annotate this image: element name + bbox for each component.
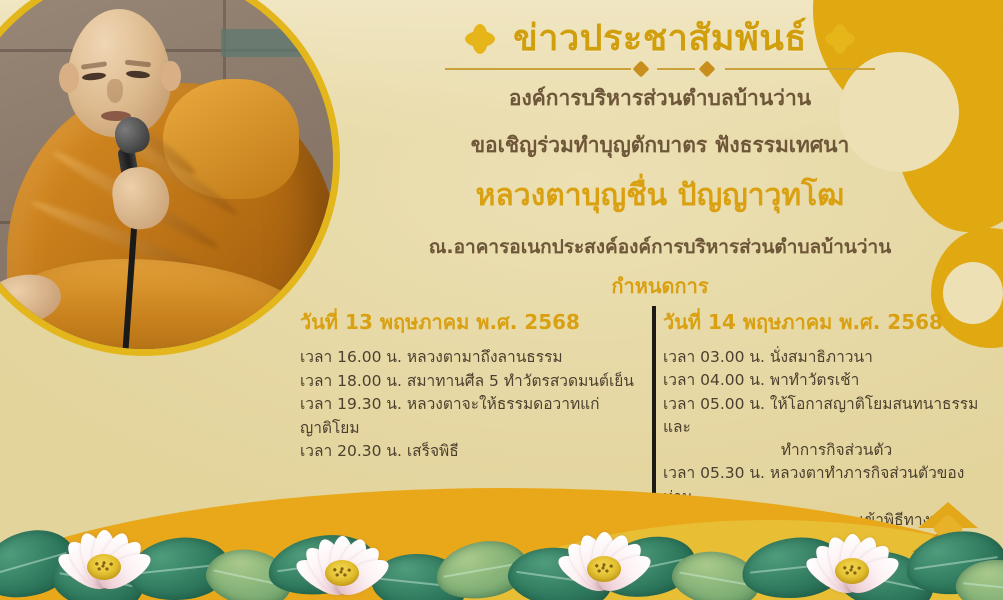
invitation-text: ขอเชิญร่วมทำบุญตักบาตร ฟังธรรมเทศนา: [330, 129, 990, 162]
quatrefoil-ornament-left: [465, 24, 495, 54]
lotus-seed-pod: [587, 556, 621, 582]
lotus-flower: [290, 520, 394, 598]
organization-name: องค์การบริหารส่วนตำบลบ้านว่าน: [330, 82, 990, 115]
title-row: ข่าวประชาสัมพันธ์: [330, 18, 990, 59]
day2-event-continued: ทำการกิจส่วนตัว: [663, 439, 990, 462]
day1-heading: วันที่ 13 พฤษภาคม พ.ศ. 2568: [300, 306, 645, 338]
announcement-poster: ข่าวประชาสัมพันธ์ องค์การบริหารส่วนตำบลบ…: [0, 0, 1003, 600]
day2-event: เวลา 04.00 น. พาทำวัตรเช้า: [663, 369, 990, 392]
lotus-flower: [552, 516, 656, 594]
decorative-divider: [445, 62, 875, 76]
day1-event: เวลา 16.00 น. หลวงตามาถึงลานธรรม: [300, 346, 645, 370]
schedule-column-day1: วันที่ 13 พฤษภาคม พ.ศ. 2568 เวลา 16.00 น…: [300, 306, 645, 464]
lotus-seed-pod: [835, 558, 869, 584]
monk-ear-left: [59, 63, 79, 93]
lotus-flower: [800, 518, 904, 596]
agenda-label: กำหนดการ: [330, 270, 990, 302]
day2-event: เวลา 05.00 น. ให้โอกาสญาติโยมสนทนาธรรมแล…: [663, 393, 990, 440]
divider-bar-middle: [657, 68, 695, 70]
venue-text: ณ.อาคารอเนกประสงค์องค์การบริหารส่วนตำบลบ…: [330, 232, 990, 262]
divider-bar-left: [445, 68, 631, 70]
poster-header: ข่าวประชาสัมพันธ์ องค์การบริหารส่วนตำบลบ…: [330, 18, 990, 302]
monk-ear-right: [161, 61, 181, 91]
day2-heading: วันที่ 14 พฤษภาคม พ.ศ. 2568: [663, 306, 990, 338]
monk-portrait-frame: [0, 0, 340, 356]
bottom-lotus-band: [0, 480, 1003, 600]
day2-event: เวลา 03.00 น. นั่งสมาธิภาวนา: [663, 346, 990, 369]
lotus-seed-pod: [325, 560, 359, 586]
day1-event: เวลา 19.30 น. หลวงตาจะให้ธรรมดอวาทแก่ญาต…: [300, 393, 645, 440]
backdrop-teal-panel: [221, 29, 333, 57]
day1-event: เวลา 20.30 น. เสร็จพิธี: [300, 440, 645, 464]
day1-event: เวลา 18.00 น. สมาทานศีล 5 ทำวัตรสวดมนต์เ…: [300, 370, 645, 394]
divider-gem-left: [633, 61, 650, 78]
page-title: ข่าวประชาสัมพันธ์: [513, 18, 807, 59]
monk-name: หลวงตาบุญชื่น ปัญญาวุทโฒ: [330, 172, 990, 219]
lotus-seed-pod: [87, 554, 121, 580]
lotus-flower: [52, 514, 156, 592]
divider-bar-right: [725, 68, 875, 70]
column-separator: [652, 306, 656, 501]
monk-portrait-photo: [0, 0, 333, 349]
divider-gem-right: [699, 61, 716, 78]
quatrefoil-ornament-right: [825, 24, 855, 54]
monk-nose: [107, 79, 123, 103]
